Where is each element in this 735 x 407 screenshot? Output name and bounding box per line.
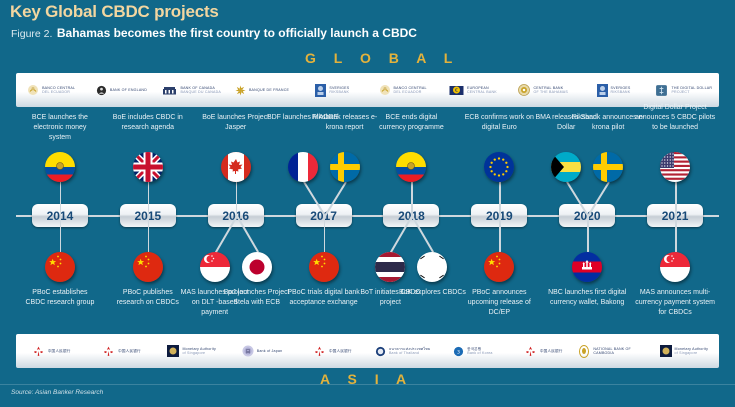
flag-bahamas[interactable]	[551, 152, 581, 182]
logo-caption: THE DIGITAL DOLLARPROJECT	[671, 86, 712, 95]
logo-caption: BANQUE DE FRANCE	[249, 88, 289, 92]
asia-logo-10: Monetary Authorityof Singapore	[649, 334, 719, 368]
flag-singapore[interactable]	[200, 252, 230, 282]
global-event-caption: ECB confirms work on digital Euro	[462, 113, 536, 133]
peoples-bank-of-china-logo	[524, 345, 537, 358]
figure-subtitle: Figure 2. Bahamas becomes the first coun…	[11, 24, 417, 42]
bank-of-thailand-logo	[375, 346, 386, 357]
asia-event-caption: PBoC publishes research on CBDCs	[111, 288, 185, 308]
logo-caption: BANCO CENTRALDEL ECUADOR	[394, 86, 427, 95]
logo-caption: 한국은행Bank of Korea	[467, 347, 492, 356]
flag-thailand[interactable]	[375, 252, 405, 282]
logo-caption: 中国人民银行	[540, 349, 563, 353]
peoples-bank-of-china-logo	[32, 345, 45, 358]
asia-event-caption: NBC launches first digital currency wall…	[545, 288, 629, 308]
flag-south-korea[interactable]	[417, 252, 447, 282]
sveriges-riksbank-logo	[597, 84, 608, 97]
national-bank-of-cambodia-logo	[578, 345, 590, 358]
monetary-authority-of-singapore-logo	[660, 345, 672, 357]
flag-japan[interactable]	[242, 252, 272, 282]
connector-line	[499, 216, 501, 252]
flag-china[interactable]	[45, 252, 75, 282]
logo-caption: BANK OF CANADABANQUE DU CANADA	[180, 86, 221, 95]
monetary-authority-of-singapore-logo	[167, 345, 179, 357]
flag-united-kingdom[interactable]	[133, 152, 163, 182]
global-logo-7: €EUROPEANCENTRAL BANK	[438, 73, 508, 107]
asia-logo-4: 日Bank of Japan	[227, 334, 297, 368]
svg-text:3: 3	[457, 349, 460, 355]
flag-singapore[interactable]	[660, 252, 690, 282]
logo-caption: Monetary Authorityof Singapore	[675, 347, 709, 356]
connector-line	[411, 182, 413, 216]
logo-caption: BANCO CENTRALDEL ECUADOR	[42, 86, 75, 95]
banque-de-france-logo	[235, 85, 246, 96]
global-logo-5: SVERIGESRIKSBANK	[297, 73, 367, 107]
footer-divider	[0, 384, 735, 385]
global-logo-6: BANCO CENTRALDEL ECUADOR	[367, 73, 437, 107]
logo-caption: EUROPEANCENTRAL BANK	[467, 86, 497, 95]
connector-line	[148, 216, 150, 252]
source-note: Source: Asian Banker Research	[11, 389, 103, 396]
connector-line	[587, 216, 589, 252]
connector-line	[60, 182, 62, 216]
global-event-caption: BCE launches the electronic money system	[23, 113, 97, 143]
global-event-caption: BoE includes CBDC in research agenda	[111, 113, 185, 133]
global-logo-10: THE DIGITAL DOLLARPROJECT	[649, 73, 719, 107]
asia-logo-2: 中国人民银行	[86, 334, 156, 368]
flag-ecuador[interactable]	[396, 152, 426, 182]
logo-caption: SVERIGESRIKSBANK	[329, 86, 349, 95]
page-title: Key Global CBDC projects	[10, 2, 219, 22]
sveriges-riksbank-logo	[315, 84, 326, 97]
region-heading-global: G L O B A L	[305, 50, 459, 66]
global-logo-4: BANQUE DE FRANCE	[227, 73, 297, 107]
asia-logo-5: 中国人民银行	[297, 334, 367, 368]
peoples-bank-of-china-logo	[313, 345, 326, 358]
asia-event-caption: BoK explores CBDCs	[395, 288, 469, 298]
asia-event-caption: PBoC trials digital bank acceptance exch…	[287, 288, 361, 308]
connector-line	[499, 182, 501, 216]
central-bank-of-the-bahamas-logo	[518, 84, 530, 96]
flag-china[interactable]	[133, 252, 163, 282]
digital-dollar-project-logo	[655, 84, 668, 97]
flag-canada[interactable]	[221, 152, 251, 182]
logo-caption: ธนาคารแห่งประเทศไทยBank of Thailand	[389, 347, 430, 356]
connector-line	[675, 216, 677, 252]
asia-event-caption: PBoC announces upcoming release of DC/EP	[462, 288, 536, 318]
bank-of-england-logo	[96, 85, 107, 96]
logo-caption: NATIONAL BANK OF CAMBODIA	[593, 347, 648, 356]
logo-caption: CENTRAL BANKOF THE BAHAMAS	[533, 86, 567, 95]
bank-of-canada-logo	[162, 85, 177, 96]
asia-logo-3: Monetary Authorityof Singapore	[157, 334, 227, 368]
logo-caption: BANK OF ENGLAND	[110, 88, 147, 92]
banco-central-del-ecuador-logo	[379, 84, 391, 96]
peoples-bank-of-china-logo	[102, 345, 115, 358]
logo-caption: Monetary Authorityof Singapore	[182, 347, 216, 356]
flag-united-states[interactable]	[660, 152, 690, 182]
banco-central-del-ecuador-logo	[27, 84, 39, 96]
global-logo-3: BANK OF CANADABANQUE DU CANADA	[157, 73, 227, 107]
asia-logo-7: 3한국은행Bank of Korea	[438, 334, 508, 368]
logo-caption: 中国人民银行	[118, 349, 141, 353]
asia-logo-1: 中国人民银行	[16, 334, 86, 368]
global-event-caption: BCE ends digital currency programme	[374, 113, 448, 133]
global-logo-1: BANCO CENTRALDEL ECUADOR	[16, 73, 86, 107]
flag-sweden[interactable]	[330, 152, 360, 182]
logo-caption: 中国人民银行	[329, 349, 352, 353]
bank-of-japan-logo: 日	[242, 345, 254, 357]
european-central-bank-logo: €	[449, 84, 464, 96]
flag-ecuador[interactable]	[45, 152, 75, 182]
global-logo-2: BANK OF ENGLAND	[86, 73, 156, 107]
global-event-caption: BoE launches Project Jasper	[199, 113, 273, 133]
flag-china[interactable]	[484, 252, 514, 282]
asia-event-caption: BoJ launches Project Stela with ECB	[220, 288, 294, 308]
asia-event-caption: MAS announces multi-currency payment sys…	[633, 288, 717, 318]
flag-european-union[interactable]	[484, 152, 514, 182]
logo-caption: 中国人民银行	[48, 349, 71, 353]
flag-cambodia[interactable]	[572, 252, 602, 282]
logo-caption: SVERIGESRIKSBANK	[611, 86, 631, 95]
flag-france[interactable]	[288, 152, 318, 182]
global-event-caption: Riksbank releases e-krona report	[308, 113, 382, 133]
asia-logo-8: 中国人民银行	[508, 334, 578, 368]
connector-line	[675, 182, 677, 216]
connector-line	[236, 182, 238, 216]
global-logo-9: SVERIGESRIKSBANK	[578, 73, 648, 107]
global-logo-strip: BANCO CENTRALDEL ECUADORBANK OF ENGLANDB…	[16, 73, 719, 107]
connector-line	[60, 216, 62, 252]
asia-event-caption: PBoC establishes CBDC research group	[23, 288, 97, 308]
asia-logo-strip: 中国人民银行中国人民银行Monetary Authorityof Singapo…	[16, 334, 719, 368]
svg-text:日: 日	[246, 349, 251, 355]
asia-logo-9: NATIONAL BANK OF CAMBODIA	[578, 334, 648, 368]
subtitle-text: Bahamas becomes the first country to off…	[57, 26, 417, 40]
flag-sweden[interactable]	[593, 152, 623, 182]
connector-line	[148, 182, 150, 216]
asia-logo-6: ธนาคารแห่งประเทศไทยBank of Thailand	[367, 334, 437, 368]
flag-china[interactable]	[309, 252, 339, 282]
global-logo-8: CENTRAL BANKOF THE BAHAMAS	[508, 73, 578, 107]
logo-caption: Bank of Japan	[257, 349, 283, 353]
figure-label: Figure 2.	[11, 28, 52, 40]
connector-line	[324, 216, 326, 252]
global-event-caption: Digital Dollar Project announces 5 CBDC …	[633, 103, 717, 133]
svg-text:€: €	[455, 88, 458, 94]
bank-of-korea-logo: 3	[453, 346, 464, 357]
infographic-canvas: Key Global CBDC projects Figure 2. Baham…	[0, 0, 735, 407]
